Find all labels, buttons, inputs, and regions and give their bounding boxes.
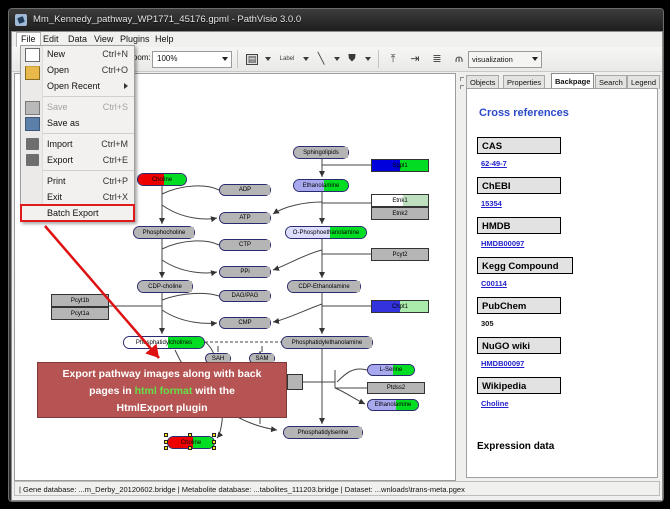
node-label: CDP-choline (148, 284, 182, 290)
xref-header-pubchem: PubChem (477, 297, 561, 314)
node-label: ADP (239, 187, 251, 193)
tab-properties[interactable]: Properties (503, 75, 545, 89)
pathway-node-etnk1[interactable]: Etnk1 (371, 194, 429, 207)
status-text: | Gene database: ...m_Derby_20120602.bri… (19, 485, 465, 494)
tab-legend[interactable]: Legend (627, 75, 660, 89)
node-label: PPi (240, 269, 249, 275)
annotation-callout: Export pathway images along with back pa… (37, 362, 287, 418)
xref-value-cas[interactable]: 62-49-7 (481, 159, 507, 168)
toolbar-separator-2 (378, 50, 379, 68)
pathway-node-ptdss2[interactable]: Ptdss2 (367, 382, 425, 394)
pathway-node-ppi[interactable]: PPi (219, 266, 271, 278)
file-menu-popup[interactable]: NewCtrl+NOpenCtrl+OOpen RecentSaveCtrl+S… (20, 45, 135, 222)
align-left-icon[interactable]: ⇥ (406, 50, 424, 68)
node-label: CTP (239, 242, 251, 248)
xref-header-wikipedia: Wikipedia (477, 377, 561, 394)
tab-objects[interactable]: Objects (466, 75, 499, 89)
line-tool-icon[interactable]: ╲ (312, 50, 330, 68)
datanode-dropdown-icon[interactable] (265, 57, 271, 61)
node-label: Pcyt1b (71, 298, 89, 304)
file-menu-item-exit[interactable]: ExitCtrl+X (21, 189, 134, 205)
align-top-icon[interactable]: ⤒ (384, 50, 402, 68)
application-window: Mm_Kennedy_pathway_WP1771_45176.gpml - P… (8, 8, 664, 502)
node-label: SAH (212, 356, 224, 362)
chevron-down-icon-2 (532, 57, 538, 61)
distribute-horizontal-icon[interactable]: ≣ (428, 50, 446, 68)
export-icon (26, 154, 39, 166)
backpage-panel[interactable]: Cross references CAS 62-49-7 ChEBI 15354… (466, 88, 658, 478)
file-menu-item-import[interactable]: ImportCtrl+M (21, 136, 134, 152)
side-panel: Objects Properties Backpage Search Legen… (458, 73, 658, 479)
pathway-node-pemt-box[interactable] (287, 374, 303, 390)
selection-handle[interactable] (164, 433, 168, 437)
annotation-line-1: Export pathway images along with back (38, 366, 286, 383)
file-menu-item-print[interactable]: PrintCtrl+P (21, 173, 134, 189)
file-menu-accelerator: Ctrl+S (103, 99, 128, 115)
file-menu-accelerator: Ctrl+X (103, 189, 128, 205)
shape-tool-icon[interactable]: ⛊ (343, 50, 361, 68)
xref-header-cas: CAS (477, 137, 561, 154)
pathway-node-phosphatidylethanolamine[interactable]: Phosphatidylethanolamine (281, 336, 373, 349)
file-menu-item-export[interactable]: ExportCtrl+E (21, 152, 134, 168)
pathway-node-etnk2[interactable]: Etnk2 (371, 207, 429, 220)
chevron-down-icon (222, 57, 228, 61)
pathway-node-sgpl1[interactable]: Sgpl1 (371, 159, 429, 172)
screenshot-root: Mm_Kennedy_pathway_WP1771_45176.gpml - P… (0, 0, 670, 509)
side-panel-tabs: Objects Properties Backpage Search Legen… (466, 73, 658, 88)
datanode-tool-icon[interactable]: ▤ (243, 50, 261, 68)
selection-handle[interactable] (188, 446, 192, 450)
label-tool-icon[interactable]: Label (274, 50, 300, 68)
file-menu-label: Print (47, 173, 66, 189)
pathvisio-icon (15, 14, 27, 26)
tab-backpage[interactable]: Backpage (551, 73, 594, 89)
file-menu-item-open[interactable]: OpenCtrl+O (21, 62, 134, 78)
common-width-icon[interactable]: ⫙ (450, 50, 468, 68)
pathway-node-adp[interactable]: ADP (219, 184, 271, 196)
file-menu-accelerator: Ctrl+N (102, 46, 128, 62)
toolbar-separator (237, 50, 238, 68)
pathway-node-atp[interactable]: ATP (219, 212, 271, 224)
pathway-node-phosphatidylserine[interactable]: Phosphatidylserine (283, 426, 363, 439)
pathway-node-cdp-ethanolamine[interactable]: CDP-Ethanolamine (287, 280, 361, 293)
xref-value-chebi[interactable]: 15354 (481, 199, 502, 208)
node-label: Sgpl1 (392, 163, 407, 169)
node-label: Phosphocholine (143, 230, 186, 236)
node-label: CMP (238, 320, 251, 326)
file-menu-item-save-as[interactable]: Save as (21, 115, 134, 131)
node-label: Phosphatidylethanolamine (292, 340, 362, 346)
node-label: O-Phosphoethanolamine (293, 230, 359, 236)
node-label: Pcyt2 (392, 252, 407, 258)
line-dropdown-icon[interactable] (334, 57, 340, 61)
pathway-node-sphingolipids[interactable]: Sphingolipids (293, 146, 349, 159)
pathway-node-phosphocholine[interactable]: Phosphocholine (133, 226, 195, 239)
file-menu-label: Exit (47, 189, 62, 205)
xref-value-wikipedia[interactable]: Choline (481, 399, 509, 408)
pathway-node-pcyt1a[interactable]: Pcyt1a (51, 307, 109, 320)
xref-header-kegg: Kegg Compound (477, 257, 573, 274)
node-label: Phosphatidylcholines (136, 340, 192, 346)
selection-handle[interactable] (164, 446, 168, 450)
file-menu-label: New (47, 46, 65, 62)
node-label: Etnk2 (392, 211, 407, 217)
title-bar: Mm_Kennedy_pathway_WP1771_45176.gpml - P… (9, 9, 663, 31)
file-menu-accelerator: Ctrl+E (103, 152, 128, 168)
menu-help[interactable]: Help (151, 33, 178, 46)
node-fill-left (288, 375, 302, 389)
annotation-line-2a: pages in (89, 385, 135, 397)
window-title: Mm_Kennedy_pathway_WP1771_45176.gpml - P… (33, 9, 301, 31)
file-menu-label: Save (47, 99, 68, 115)
xref-header-chebi: ChEBI (477, 177, 561, 194)
panel-drag-handle[interactable] (458, 73, 465, 476)
annotation-line-2: pages in html format with the (38, 383, 286, 400)
label-dropdown-icon[interactable] (303, 57, 309, 61)
node-label: DAG/PAG (232, 293, 259, 299)
annotation-line-3: HtmlExport plugin (38, 400, 286, 417)
zoom-combo[interactable]: 100% (152, 51, 232, 68)
node-label: Choline (181, 440, 201, 446)
node-label: Chpt1 (392, 304, 408, 310)
file-menu-label: Import (47, 136, 73, 152)
save-icon (25, 101, 40, 115)
annotation-highlight: html format (135, 385, 193, 397)
xref-value-nugo[interactable]: HMDB00097 (481, 359, 524, 368)
file-menu-accelerator: Ctrl+M (101, 136, 128, 152)
xref-header-nugo: NuGO wiki (477, 337, 561, 354)
save-as-icon (25, 117, 40, 131)
selection-handle[interactable] (212, 433, 216, 437)
node-label: Sphingolipids (303, 150, 339, 156)
selection-handle[interactable] (212, 440, 216, 444)
file-menu-label: Open (47, 62, 69, 78)
node-label: Ptdss2 (387, 385, 405, 391)
file-menu-item-save: SaveCtrl+S (21, 99, 134, 115)
file-menu-label: Save as (47, 115, 80, 131)
selection-handle[interactable] (188, 433, 192, 437)
file-menu-label: Export (47, 152, 73, 168)
pathway-node-pcyt1b[interactable]: Pcyt1b (51, 294, 109, 307)
pathway-node-ctp[interactable]: CTP (219, 239, 271, 251)
pathway-node-cdp-choline[interactable]: CDP-choline (137, 280, 193, 293)
pathway-node-chpt1[interactable]: Chpt1 (371, 300, 429, 313)
visualization-value: visualization (472, 55, 513, 64)
file-menu-item-new[interactable]: NewCtrl+N (21, 46, 134, 62)
zoom-value: 100% (157, 54, 177, 63)
pathway-node-phosphatidylcholines[interactable]: Phosphatidylcholines (123, 336, 205, 349)
xref-value-kegg[interactable]: C00114 (481, 279, 507, 288)
selection-handle[interactable] (212, 446, 216, 450)
node-label: Choline (152, 177, 172, 183)
node-label: CDP-Ethanolamine (298, 284, 349, 290)
node-label: Pcyt1a (71, 311, 89, 317)
pathway-node-ethanolamine-top[interactable]: Ethanolamine (293, 179, 349, 192)
pathway-node-cmp[interactable]: CMP (219, 317, 271, 329)
file-menu-separator (42, 96, 134, 97)
file-menu-item-batch-export[interactable]: Batch Export (21, 205, 134, 221)
visualization-combo[interactable]: visualization (468, 51, 542, 68)
pathway-node-dag-pag[interactable]: DAG/PAG (219, 290, 271, 302)
import-icon (26, 138, 39, 150)
file-menu-label: Batch Export (47, 205, 99, 221)
pathway-node-choline-top[interactable]: Choline (137, 173, 187, 186)
file-menu-separator (42, 133, 134, 134)
node-label: Ethanolamine (375, 402, 412, 408)
xref-value-pubchem: 305 (481, 319, 494, 328)
node-label: Etnk1 (392, 198, 407, 204)
shape-dropdown-icon[interactable] (365, 57, 371, 61)
file-menu-separator (42, 170, 134, 171)
file-menu-label: Open Recent (47, 78, 100, 94)
node-label: Phosphatidylserine (298, 430, 349, 436)
pathway-node-ethanolamine-bot[interactable]: Ethanolamine (367, 399, 419, 411)
node-label: ATP (239, 215, 250, 221)
status-bar: | Gene database: ...m_Derby_20120602.bri… (14, 481, 660, 496)
cross-references-title: Cross references (479, 107, 569, 119)
xref-value-hmdb[interactable]: HMDB00097 (481, 239, 524, 248)
file-menu-item-open-recent[interactable]: Open Recent (21, 78, 134, 94)
tab-search[interactable]: Search (595, 75, 627, 89)
file-menu-accelerator: Ctrl+P (103, 173, 128, 189)
node-label: Ethanolamine (303, 183, 340, 189)
expression-data-title: Expression data (477, 441, 554, 452)
pathway-node-o-phosphoethanolamine[interactable]: O-Phosphoethanolamine (285, 226, 367, 239)
new-file-icon (25, 48, 40, 62)
xref-header-hmdb: HMDB (477, 217, 561, 234)
pathway-node-l-serine[interactable]: L-Serine (367, 364, 415, 376)
pathway-node-pcyt2[interactable]: Pcyt2 (371, 248, 429, 261)
node-label: L-Serine (380, 367, 403, 373)
application-body: File Edit Data View Plugins Help Zoom: 1… (11, 31, 663, 501)
file-menu-accelerator: Ctrl+O (102, 62, 128, 78)
submenu-arrow-icon (124, 83, 128, 89)
node-label: SAM (255, 356, 268, 362)
selection-handle[interactable] (164, 440, 168, 444)
annotation-line-2b: with the (192, 385, 235, 397)
